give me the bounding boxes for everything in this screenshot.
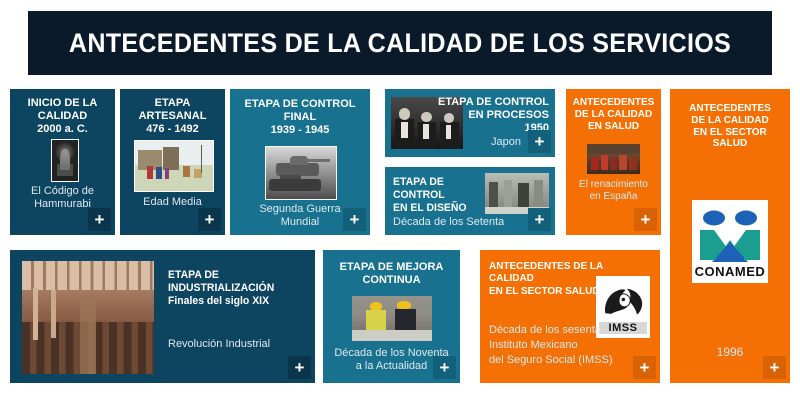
heading-line: ETAPA DE CONTROL: [429, 96, 549, 109]
heading-line: ETAPA DE CONTROL: [393, 176, 493, 202]
page-title-banner: ANTECEDENTES DE LA CALIDAD DE LOS SERVIC…: [28, 11, 772, 75]
heading-line: EN EL SECTOR: [670, 127, 790, 139]
heading-line: ANTECEDENTES: [670, 103, 790, 115]
heading-line: ARTESANAL: [120, 110, 225, 123]
caption-line: El Código de: [10, 185, 115, 198]
heading-line: ETAPA: [120, 97, 225, 110]
heading-line: 476 - 1492: [120, 123, 225, 136]
expand-button[interactable]: +: [763, 356, 786, 379]
caption-line: Instituto Mexicano: [489, 338, 639, 353]
heading-line: INDUSTRIALIZACIÓN: [168, 282, 306, 295]
card-heading: ETAPA DE CONTROL FINAL 1939 - 1945: [230, 98, 370, 137]
caption-line: en España: [566, 191, 661, 203]
expand-button[interactable]: +: [88, 208, 111, 231]
caption-line: Japon: [491, 136, 521, 149]
card-heading: INICIO DE LA CALIDAD 2000 a. C.: [10, 97, 115, 136]
heading-line: DE LA CALIDAD: [566, 109, 661, 121]
heading-line: CALIDAD: [10, 110, 115, 123]
caption-line: El renacimiento: [566, 179, 661, 191]
conamed-logo: CONAMED: [692, 200, 768, 283]
segunda-guerra-mundial-image: [265, 146, 337, 200]
card-heading: ETAPA DE INDUSTRIALIZACIÓN Finales del s…: [168, 269, 306, 308]
expand-button[interactable]: +: [433, 356, 456, 379]
card-etapa-control-final[interactable]: ETAPA DE CONTROL FINAL 1939 - 1945 Segun…: [230, 89, 370, 235]
caption-line: Década de los sesenta: [489, 323, 639, 338]
heading-line: DE LA CALIDAD: [670, 115, 790, 127]
heading-line: 1939 - 1945: [230, 124, 370, 137]
card-etapa-artesanal[interactable]: ETAPA ARTESANAL 476 - 1492 Edad Media +: [120, 89, 225, 235]
expand-button[interactable]: +: [528, 208, 551, 231]
page-title: ANTECEDENTES DE LA CALIDAD DE LOS SERVIC…: [69, 28, 731, 59]
card-antecedentes-sector-salud-conamed[interactable]: ANTECEDENTES DE LA CALIDAD EN EL SECTOR …: [670, 89, 790, 383]
edad-media-image: [134, 140, 214, 192]
card-caption: Revolución Industrial: [168, 338, 313, 351]
mejora-continua-image: [352, 296, 432, 341]
card-etapa-control-procesos[interactable]: ETAPA DE CONTROL EN PROCESOS 1950 Japon …: [385, 89, 555, 157]
revolucion-industrial-image: [22, 261, 154, 374]
heading-line: ETAPA DE MEJORA: [323, 261, 460, 274]
heading-line: CONTINUA: [323, 274, 460, 287]
heading-line: ETAPA DE: [168, 269, 306, 282]
slide-canvas: ANTECEDENTES DE LA CALIDAD DE LOS SERVIC…: [0, 0, 800, 400]
card-heading: ETAPA DE MEJORA CONTINUA: [323, 261, 460, 287]
expand-button[interactable]: +: [288, 356, 311, 379]
renacimiento-espana-image: [587, 144, 640, 174]
card-antecedentes-sector-salud-imss[interactable]: ANTECEDENTES DE LA CALIDAD EN EL SECTOR …: [480, 250, 660, 383]
heading-line: Finales del siglo XIX: [168, 295, 306, 308]
card-caption: Década de los Setenta: [393, 216, 504, 229]
expand-button[interactable]: +: [634, 208, 657, 231]
card-heading: ETAPA DE CONTROL EN EL DISEÑO: [393, 176, 493, 215]
expand-button[interactable]: +: [633, 356, 656, 379]
codigo-hammurabi-image: [51, 139, 79, 182]
card-heading: ETAPA ARTESANAL 476 - 1492: [120, 97, 225, 136]
card-caption: Japon: [491, 136, 521, 149]
card-etapa-industrializacion[interactable]: ETAPA DE INDUSTRIALIZACIÓN Finales del s…: [10, 250, 315, 383]
card-caption: El renacimiento en España: [566, 179, 661, 203]
heading-line: SALUD: [670, 138, 790, 150]
heading-line: EN PROCESOS: [429, 109, 549, 122]
heading-line: EN EL DISEÑO: [393, 202, 493, 215]
card-caption: Década de los sesenta Instituto Mexicano…: [489, 323, 639, 368]
heading-line: 2000 a. C.: [10, 123, 115, 136]
card-heading: ANTECEDENTES DE LA CALIDAD EN SALUD: [566, 97, 661, 132]
card-etapa-control-diseno[interactable]: ETAPA DE CONTROL EN EL DISEÑO Década de …: [385, 167, 555, 235]
card-antecedentes-salud[interactable]: ANTECEDENTES DE LA CALIDAD EN SALUD El r…: [566, 89, 661, 235]
card-etapa-mejora-continua[interactable]: ETAPA DE MEJORA CONTINUA Década de los N…: [323, 250, 460, 383]
card-inicio-calidad[interactable]: INICIO DE LA CALIDAD 2000 a. C. El Códig…: [10, 89, 115, 235]
caption-line: del Seguro Social (IMSS): [489, 353, 639, 368]
caption-line: Década de los Setenta: [393, 216, 504, 229]
expand-button[interactable]: +: [528, 130, 551, 153]
expand-button[interactable]: +: [198, 208, 221, 231]
caption-line: Revolución Industrial: [168, 338, 313, 351]
heading-line: EN SALUD: [566, 121, 661, 133]
heading-line: ETAPA DE CONTROL: [230, 98, 370, 111]
conamed-logo-text: CONAMED: [692, 264, 768, 279]
heading-line: INICIO DE LA: [10, 97, 115, 110]
heading-line: FINAL: [230, 111, 370, 124]
heading-line: ANTECEDENTES: [566, 97, 661, 109]
card-heading: ANTECEDENTES DE LA CALIDAD EN EL SECTOR …: [670, 103, 790, 150]
expand-button[interactable]: +: [343, 208, 366, 231]
